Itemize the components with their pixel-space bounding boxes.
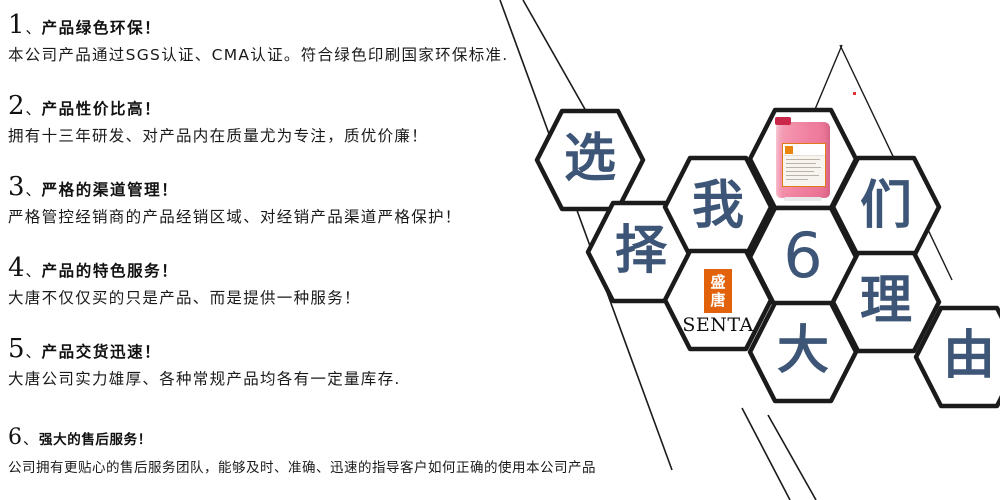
reason-separator-3: 、 [26, 179, 41, 200]
reason-body-1: 本公司产品通过SGS认证、CMA认证。符合绿色印刷国家环保标准. [8, 43, 509, 65]
reason-item-2: 2 、 产品性价比高！ 拥有十三年研发、对产品内在质量尤为专注，质优价廉！ [8, 93, 428, 146]
brand-logo: 盛 唐 SENTA [682, 269, 753, 336]
reason-item-3: 3 、 严格的渠道管理！ 严格管控经销商的产品经销区域、对经销产品渠道严格保护！ [8, 174, 462, 227]
jerrycan-label [782, 143, 826, 187]
reason-separator-4: 、 [26, 260, 41, 281]
hex-label-li: 理 [860, 275, 912, 327]
seal-char-bottom: 唐 [710, 291, 725, 309]
hex-label-men: 们 [860, 180, 912, 232]
hex-cell-men[interactable]: 们 [830, 155, 942, 259]
product-image [772, 116, 834, 202]
hex-cell-xuan[interactable]: 选 [534, 108, 646, 212]
reason-title-2: 产品性价比高！ [42, 97, 162, 119]
reason-separator-1: 、 [26, 17, 41, 38]
jerrycan-base [784, 197, 822, 201]
reason-title-1: 产品绿色环保！ [42, 16, 162, 38]
seal-char-top: 盛 [710, 273, 725, 291]
red-speck [853, 92, 856, 95]
reason-title-5: 产品交货迅速！ [42, 340, 162, 362]
reason-number-3: 3 [8, 174, 25, 200]
reason-number-2: 2 [8, 93, 25, 119]
seal-icon: 盛 唐 [704, 269, 732, 313]
reason-separator-2: 、 [26, 98, 41, 119]
reason-separator-6: 、 [23, 428, 38, 449]
reason-number-4: 4 [8, 255, 25, 281]
jerrycan-icon [776, 122, 830, 198]
reason-title-6: 强大的售后服务！ [39, 428, 152, 448]
reason-number-1: 1 [8, 12, 25, 38]
reason-title-4: 产品的特色服务！ [42, 259, 179, 281]
reason-number-6: 6 [8, 425, 22, 451]
hex-label-you: 由 [943, 330, 995, 382]
label-logo-square [785, 146, 793, 154]
reason-item-1: 1 、 产品绿色环保！ 本公司产品通过SGS认证、CMA认证。符合绿色印刷国家环… [8, 12, 509, 65]
promo-banner: 选 择 我 盛 唐 SENTA [0, 0, 1000, 500]
reason-item-5: 5 、 产品交货迅速！ 大唐公司实力雄厚、各种常规产品均各有一定量库存. [8, 336, 401, 389]
hex-cell-you[interactable]: 由 [913, 305, 1000, 409]
brand-wordmark: SENTA [682, 314, 753, 336]
reason-title-3: 严格的渠道管理！ [42, 178, 179, 200]
reason-item-4: 4 、 产品的特色服务！ 大唐不仅仅买的只是产品、而是提供一种服务！ [8, 255, 361, 308]
reason-item-6: 6 、 强大的售后服务！ 公司拥有更贴心的售后服务团队，能够及时、准确、迅速的指… [8, 425, 596, 476]
reason-body-3: 严格管控经销商的产品经销区域、对经销产品渠道严格保护！ [8, 205, 462, 227]
reason-separator-5: 、 [26, 341, 41, 362]
reason-body-6: 公司拥有更贴心的售后服务团队，能够及时、准确、迅速的指导客户如何正确的使用本公司… [8, 456, 596, 476]
hex-label-da: 大 [777, 325, 829, 377]
hex-label-ze: 择 [615, 225, 667, 277]
hex-label-xuan: 选 [564, 133, 616, 185]
reason-body-2: 拥有十三年研发、对产品内在质量尤为专注，质优价廉！ [8, 124, 428, 146]
reason-body-4: 大唐不仅仅买的只是产品、而是提供一种服务！ [8, 286, 361, 308]
reason-body-5: 大唐公司实力雄厚、各种常规产品均各有一定量库存. [8, 367, 401, 389]
jerrycan-cap [775, 117, 791, 125]
hex-label-six: 6 [783, 225, 822, 287]
hex-label-wo: 我 [692, 180, 744, 232]
reason-number-5: 5 [8, 336, 25, 362]
